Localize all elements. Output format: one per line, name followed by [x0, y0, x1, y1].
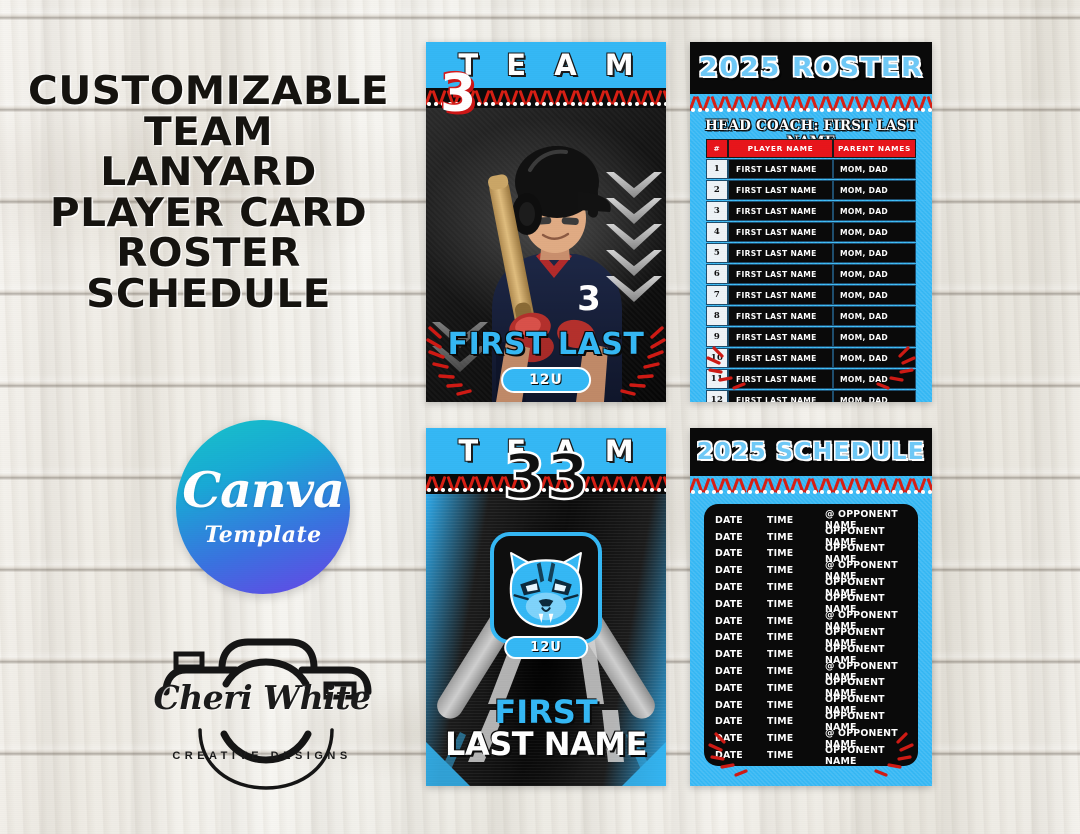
cheri-white-signature: Cheri White — [148, 678, 376, 717]
schedule-row-date: DATE — [715, 548, 767, 559]
chevron-down-icon — [606, 250, 662, 276]
schedule-row-time: TIME — [767, 733, 825, 744]
schedule-row-date: DATE — [715, 565, 767, 576]
roster-row-number: 11 — [706, 369, 728, 389]
roster-row-player-name: FIRST LAST NAME — [728, 201, 833, 221]
roster-row-parent-names: MOM, DAD — [833, 327, 916, 347]
cougar-head-icon — [500, 542, 592, 634]
roster-row-number: 8 — [706, 306, 728, 326]
column-header-number: # — [706, 139, 728, 158]
schedule-card[interactable]: 2025 SCHEDULE DATETIME@ OPPONENT NAMEDAT… — [690, 428, 932, 786]
schedule-row-date: DATE — [715, 616, 767, 627]
schedule-row-time: TIME — [767, 683, 825, 694]
schedule-row-time: TIME — [767, 565, 825, 576]
player-photo-card[interactable]: 3 — [426, 42, 666, 402]
jersey-number: 33 — [426, 446, 666, 508]
column-header-player-name: PLAYER NAME — [728, 139, 833, 158]
schedule-row-time: TIME — [767, 532, 825, 543]
schedule-row-date: DATE — [715, 515, 767, 526]
roster-row-number: 5 — [706, 243, 728, 263]
chevron-down-icon — [606, 224, 662, 250]
roster-row-parent-names: MOM, DAD — [833, 264, 916, 284]
schedule-row-date: DATE — [715, 666, 767, 677]
team-logo-card[interactable]: T E A M 33 — [426, 428, 666, 786]
roster-table-row[interactable]: 12FIRST LAST NAMEMOM, DAD — [706, 390, 916, 402]
team-label: T E A M — [449, 48, 642, 82]
roster-row-number: 3 — [706, 201, 728, 221]
roster-table-row[interactable]: 2FIRST LAST NAMEMOM, DAD — [706, 180, 916, 200]
roster-title: 2025 ROSTER — [699, 53, 924, 83]
schedule-row-time: TIME — [767, 582, 825, 593]
age-division-badge: 12U — [504, 636, 588, 659]
schedule-row-time: TIME — [767, 599, 825, 610]
schedule-row-time: TIME — [767, 750, 825, 761]
roster-row-number: 2 — [706, 180, 728, 200]
player-name: FIRST LAST — [426, 327, 666, 362]
headline-line-1: CUSTOMIZABLE — [28, 72, 389, 113]
canva-template-sublabel: Template — [204, 522, 321, 548]
roster-row-parent-names: MOM, DAD — [833, 348, 916, 368]
roster-card[interactable]: 2025 ROSTER HEAD COACH: FIRST LAST NAME … — [690, 42, 932, 402]
headline-line-5: ROSTER — [28, 234, 389, 275]
roster-row-parent-names: MOM, DAD — [833, 390, 916, 402]
player-last-name: LAST NAME — [426, 728, 666, 760]
roster-row-player-name: FIRST LAST NAME — [728, 285, 833, 305]
roster-row-number: 10 — [706, 348, 728, 368]
schedule-title: 2025 SCHEDULE — [697, 439, 925, 465]
roster-row-player-name: FIRST LAST NAME — [728, 348, 833, 368]
chevron-down-icon — [606, 276, 662, 302]
schedule-row-time: TIME — [767, 716, 825, 727]
roster-row-number: 6 — [706, 264, 728, 284]
roster-table: # PLAYER NAME PARENT NAMES 1FIRST LAST N… — [706, 138, 916, 402]
roster-row-number: 4 — [706, 222, 728, 242]
schedule-header-bar: 2025 SCHEDULE — [690, 428, 932, 476]
schedule-row-date: DATE — [715, 750, 767, 761]
roster-table-row[interactable]: 7FIRST LAST NAMEMOM, DAD — [706, 285, 916, 305]
roster-row-player-name: FIRST LAST NAME — [728, 327, 833, 347]
schedule-row-time: TIME — [767, 666, 825, 677]
schedule-list: DATETIME@ OPPONENT NAMEDATETIMEOPPONENT … — [704, 504, 918, 766]
roster-row-parent-names: MOM, DAD — [833, 222, 916, 242]
headline-line-3: LANYARD — [28, 153, 389, 194]
schedule-row-date: DATE — [715, 632, 767, 643]
roster-row-parent-names: MOM, DAD — [833, 369, 916, 389]
roster-row-player-name: FIRST LAST NAME — [728, 243, 833, 263]
roster-table-row[interactable]: 5FIRST LAST NAMEMOM, DAD — [706, 243, 916, 263]
canva-template-badge: Canva Template — [176, 420, 350, 594]
schedule-row-time: TIME — [767, 515, 825, 526]
schedule-row-time: TIME — [767, 649, 825, 660]
schedule-row-date: DATE — [715, 700, 767, 711]
headline-line-6: SCHEDULE — [28, 275, 389, 316]
stitch-strip — [690, 476, 932, 496]
schedule-row-time: TIME — [767, 632, 825, 643]
schedule-row-date: DATE — [715, 582, 767, 593]
svg-text:3: 3 — [577, 279, 601, 319]
schedule-row-date: DATE — [715, 716, 767, 727]
roster-row-number: 9 — [706, 327, 728, 347]
roster-table-row[interactable]: 1FIRST LAST NAMEMOM, DAD — [706, 159, 916, 179]
schedule-row-date: DATE — [715, 683, 767, 694]
roster-row-player-name: FIRST LAST NAME — [728, 369, 833, 389]
stitch-strip — [690, 94, 932, 114]
jersey-number: 3 — [440, 68, 476, 120]
roster-table-row[interactable]: 8FIRST LAST NAMEMOM, DAD — [706, 306, 916, 326]
schedule-row-date: DATE — [715, 649, 767, 660]
mascot-logo-container — [490, 532, 602, 644]
schedule-row-time: TIME — [767, 700, 825, 711]
roster-table-row[interactable]: 3FIRST LAST NAMEMOM, DAD — [706, 201, 916, 221]
roster-row-parent-names: MOM, DAD — [833, 159, 916, 179]
roster-row-parent-names: MOM, DAD — [833, 285, 916, 305]
roster-table-row[interactable]: 6FIRST LAST NAMEMOM, DAD — [706, 264, 916, 284]
schedule-row[interactable]: DATETIMEOPPONENT NAME — [704, 747, 918, 764]
roster-row-parent-names: MOM, DAD — [833, 243, 916, 263]
column-header-parent-names: PARENT NAMES — [833, 139, 916, 158]
roster-row-player-name: FIRST LAST NAME — [728, 222, 833, 242]
roster-row-parent-names: MOM, DAD — [833, 201, 916, 221]
schedule-row-time: TIME — [767, 616, 825, 627]
roster-row-player-name: FIRST LAST NAME — [728, 306, 833, 326]
roster-row-player-name: FIRST LAST NAME — [728, 159, 833, 179]
schedule-row-opponent: OPPONENT NAME — [825, 745, 918, 767]
creative-designs-tagline: CREATIVE DESIGNS — [148, 750, 376, 762]
headline-line-4: PLAYER CARD — [28, 194, 389, 235]
roster-row-player-name: FIRST LAST NAME — [728, 264, 833, 284]
schedule-row-time: TIME — [767, 548, 825, 559]
roster-table-row[interactable]: 4FIRST LAST NAMEMOM, DAD — [706, 222, 916, 242]
roster-table-row[interactable]: 10FIRST LAST NAMEMOM, DAD — [706, 348, 916, 368]
roster-table-row[interactable]: 9FIRST LAST NAMEMOM, DAD — [706, 327, 916, 347]
schedule-row-date: DATE — [715, 532, 767, 543]
roster-row-number: 12 — [706, 390, 728, 402]
roster-row-player-name: FIRST LAST NAME — [728, 180, 833, 200]
roster-row-number: 1 — [706, 159, 728, 179]
headline-line-2: TEAM — [28, 113, 389, 154]
schedule-row-date: DATE — [715, 599, 767, 610]
player-first-name: FIRST — [426, 696, 666, 728]
roster-row-player-name: FIRST LAST NAME — [728, 390, 833, 402]
roster-row-parent-names: MOM, DAD — [833, 180, 916, 200]
canva-wordmark: Canva — [182, 466, 344, 515]
schedule-row-date: DATE — [715, 733, 767, 744]
chevron-down-icon — [606, 198, 662, 224]
roster-header-bar: 2025 ROSTER — [690, 42, 932, 94]
roster-table-header-row: # PLAYER NAME PARENT NAMES — [706, 139, 916, 158]
promo-headline: CUSTOMIZABLE TEAM LANYARD PLAYER CARD RO… — [28, 72, 389, 315]
roster-table-row[interactable]: 11FIRST LAST NAMEMOM, DAD — [706, 369, 916, 389]
age-division-badge: 12U — [501, 367, 591, 393]
chevron-down-icon — [606, 172, 662, 198]
roster-row-parent-names: MOM, DAD — [833, 306, 916, 326]
roster-row-number: 7 — [706, 285, 728, 305]
